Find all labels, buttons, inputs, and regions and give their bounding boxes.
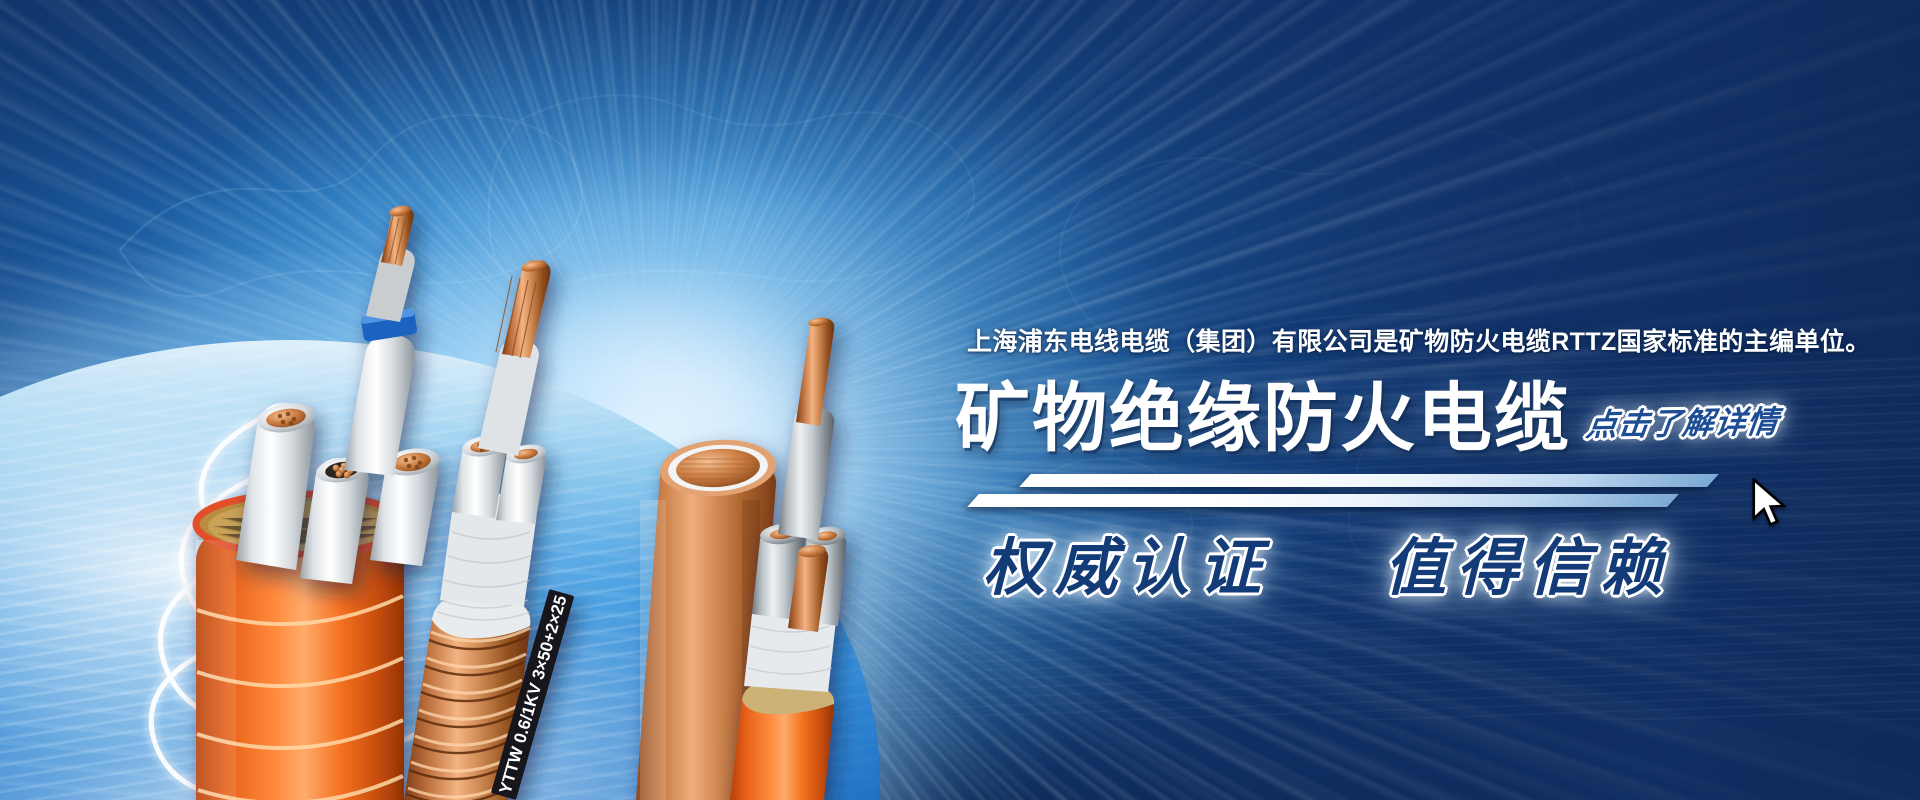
banner-headline: 矿物绝缘防火电缆 — [955, 381, 1571, 456]
divider-bar-top — [1019, 474, 1719, 487]
headline-row: 矿物绝缘防火电缆 点击了解详情 — [955, 381, 1875, 456]
banner-copy: 上海浦东电线电缆（集团）有限公司是矿物防火电缆RTTZ国家标准的主编单位。 矿物… — [955, 330, 1875, 603]
banner-subtitle: 上海浦东电线电缆（集团）有限公司是矿物防火电缆RTTZ国家标准的主编单位。 — [967, 330, 1875, 355]
banner-tagline: 权威认证 值得信赖 — [983, 532, 1875, 603]
cable-product-image: YTTW 0.6/1KV 3×50+2×25 — [0, 0, 1000, 800]
learn-more-button[interactable]: 点击了解详情 — [1584, 396, 1782, 444]
tagline-left: 权威认证 — [983, 531, 1271, 604]
divider-bars — [877, 470, 1707, 522]
hero-banner: YTTW 0.6/1KV 3×50+2×25 — [0, 0, 1920, 800]
divider-bar-bottom — [967, 494, 1679, 507]
tagline-right: 值得信赖 — [1384, 531, 1672, 604]
